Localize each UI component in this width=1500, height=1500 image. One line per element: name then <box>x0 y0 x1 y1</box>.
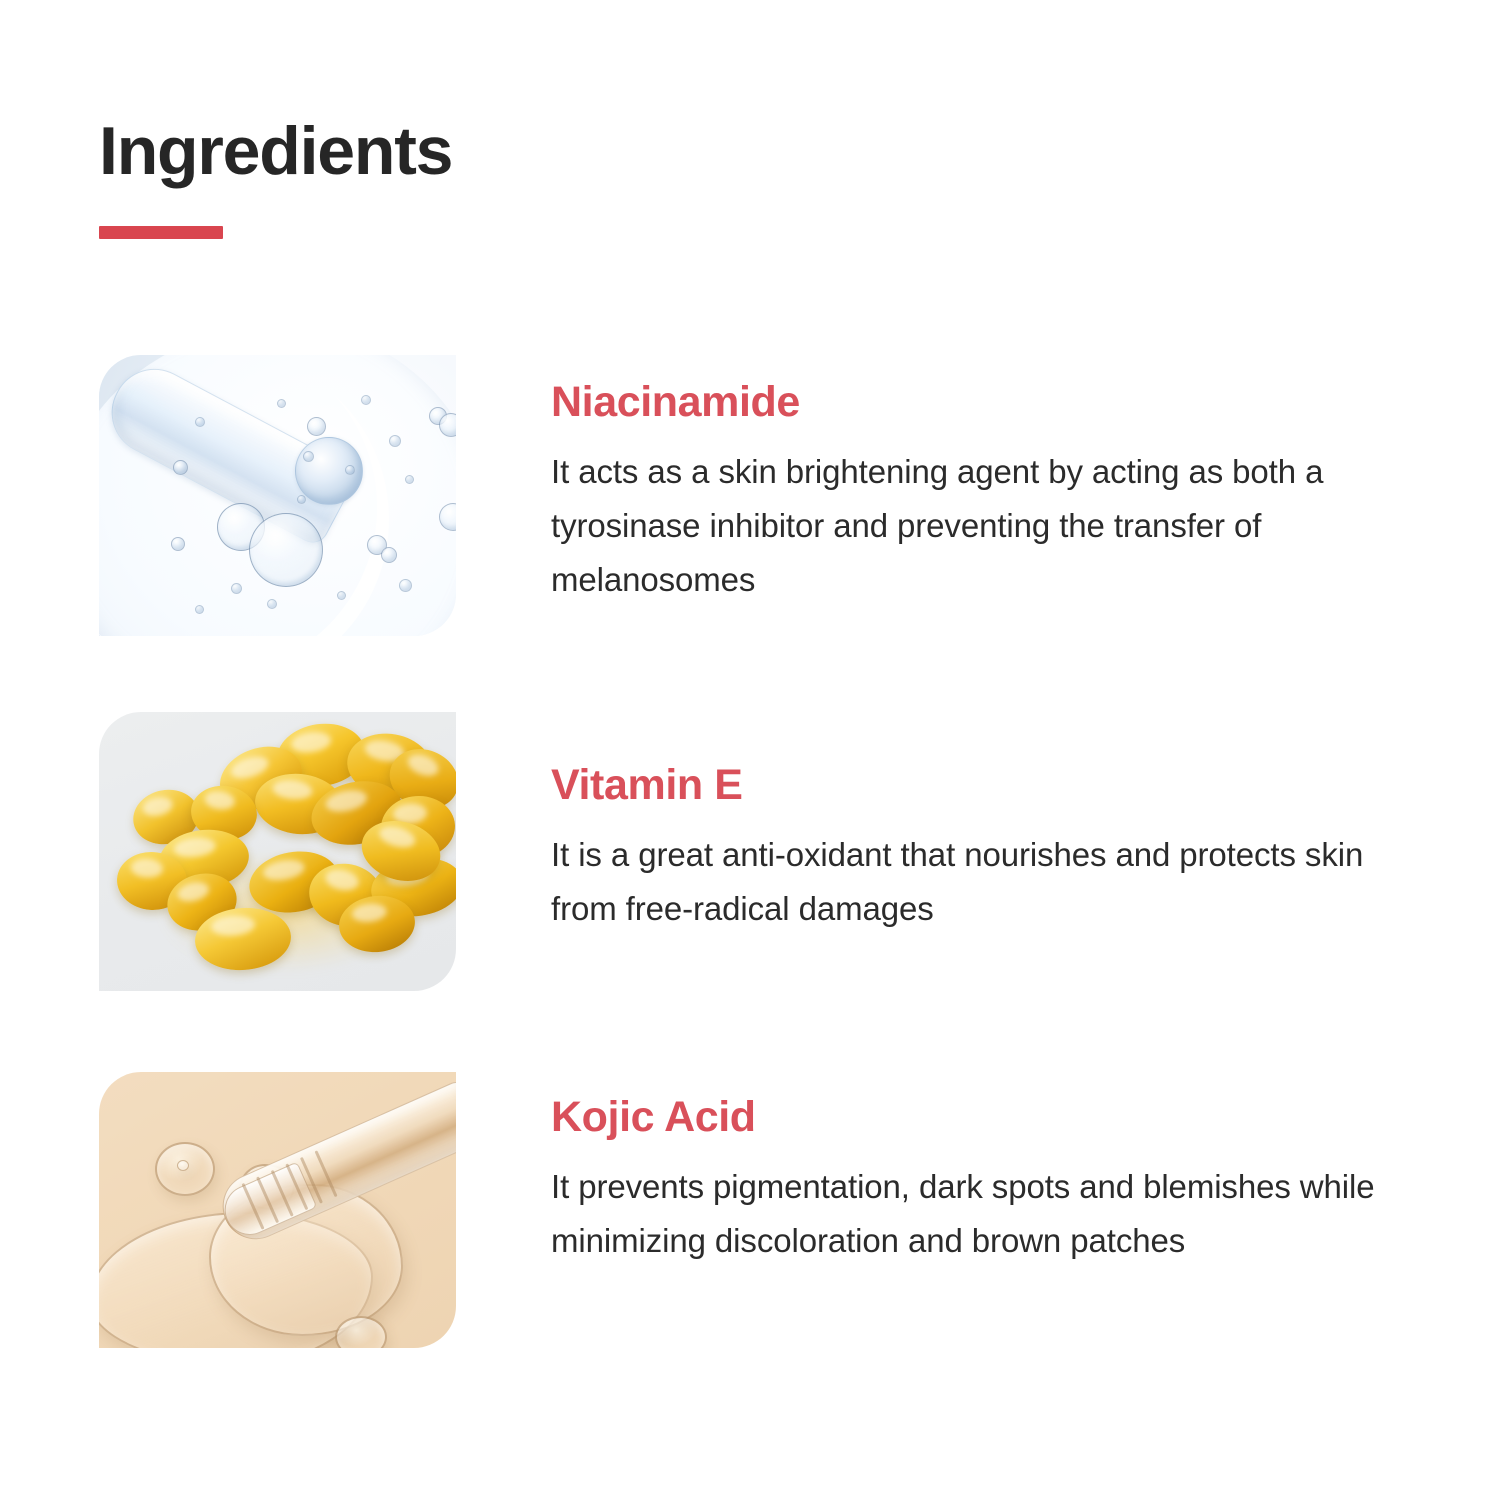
ingredient-list: Niacinamide It acts as a skin brightenin… <box>0 0 1500 1500</box>
dropper-ridge <box>315 1150 338 1197</box>
bubble-tiny <box>267 599 277 609</box>
bubble-tiny <box>297 495 306 504</box>
ingredient-name: Niacinamide <box>551 377 1409 427</box>
bubble-small <box>439 413 456 437</box>
bubble-tiny <box>399 579 412 592</box>
bubble-small <box>171 537 185 551</box>
ingredient-image-vitamin-e <box>99 712 456 991</box>
ingredient-description: It acts as a skin brightening agent by a… <box>551 445 1409 607</box>
list-item: Vitamin E It is a great anti-oxidant tha… <box>99 712 1409 991</box>
bubble-tiny <box>195 605 204 614</box>
ingredient-copy: Niacinamide It acts as a skin brightenin… <box>456 355 1409 607</box>
bubble-tiny <box>361 395 371 405</box>
bubble-tiny <box>231 583 242 594</box>
bubble-small <box>173 460 188 475</box>
bubble-tiny <box>405 475 414 484</box>
gel-droplet-edge <box>335 1316 387 1348</box>
ingredient-image-niacinamide <box>99 355 456 636</box>
bubble-tiny <box>277 399 286 408</box>
ingredient-copy: Vitamin E It is a great anti-oxidant tha… <box>456 712 1409 936</box>
bubble-small <box>381 547 397 563</box>
bubble-tiny <box>195 417 205 427</box>
ingredients-page: Ingredients <box>0 0 1500 1500</box>
bubble-tiny <box>303 451 314 462</box>
gel-droplet-tiny <box>177 1160 189 1171</box>
ingredient-description: It prevents pigmentation, dark spots and… <box>551 1160 1409 1268</box>
bubble-tiny <box>345 465 355 475</box>
bubble-small <box>307 417 326 436</box>
ingredient-description: It is a great anti-oxidant that nourishe… <box>551 828 1409 936</box>
bubble-large-2 <box>249 513 323 587</box>
bubble-tiny <box>389 435 401 447</box>
ingredient-name: Vitamin E <box>551 760 1409 810</box>
list-item: Niacinamide It acts as a skin brightenin… <box>99 355 1409 636</box>
ingredient-name: Kojic Acid <box>551 1092 1409 1142</box>
list-item: Kojic Acid It prevents pigmentation, dar… <box>99 1072 1409 1348</box>
bubble-tiny <box>337 591 346 600</box>
ingredient-image-kojic-acid <box>99 1072 456 1348</box>
ingredient-copy: Kojic Acid It prevents pigmentation, dar… <box>456 1072 1409 1268</box>
